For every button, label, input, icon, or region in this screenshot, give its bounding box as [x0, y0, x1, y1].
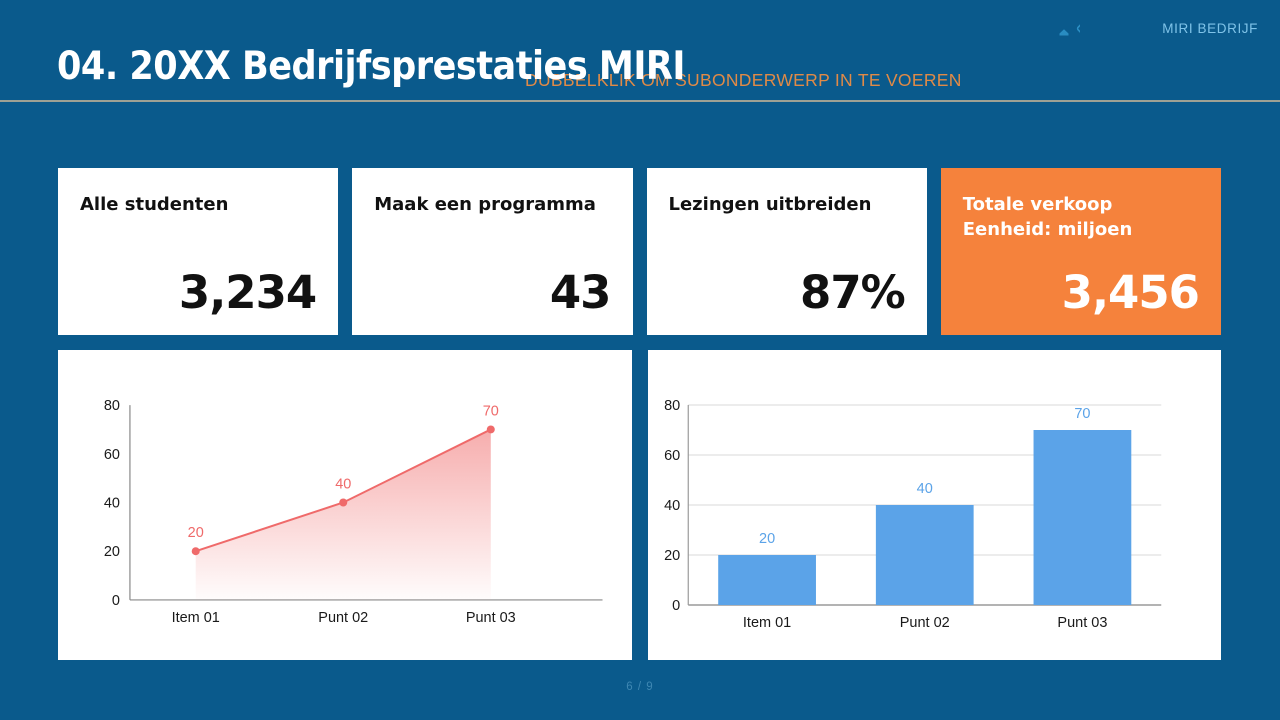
kpi-value: 3,234	[80, 269, 316, 317]
y-tick-label: 60	[104, 447, 120, 463]
x-category-label: Item 01	[742, 615, 790, 631]
data-point[interactable]	[192, 547, 200, 555]
bar[interactable]	[1033, 430, 1131, 605]
data-point-value-label: 70	[483, 403, 499, 419]
y-tick-label: 0	[112, 593, 120, 609]
y-tick-label: 20	[664, 548, 680, 564]
y-tick-label: 40	[664, 498, 680, 514]
kpi-card-alle-studenten[interactable]: Alle studenten 3,234	[58, 168, 338, 335]
bar-chart: 02040608020Item 0140Punt 0270Punt 03	[648, 350, 1222, 660]
kpi-value: 3,456	[963, 269, 1199, 317]
kpi-label-line-1: Totale verkoop	[963, 192, 1199, 217]
slide-header: MIRI BEDRIJF DUBBELKLIK OM SUBONDERWERP …	[0, 0, 1280, 101]
x-category-label: Punt 03	[1057, 615, 1107, 631]
y-tick-label: 80	[104, 398, 120, 414]
data-point[interactable]	[339, 499, 347, 507]
kpi-card-lezingen-uitbreiden[interactable]: Lezingen uitbreiden 87%	[647, 168, 927, 335]
kpi-card-maak-een-programma[interactable]: Maak een programma 43	[352, 168, 632, 335]
diamond-logo-icon	[1048, 16, 1080, 48]
y-tick-label: 0	[672, 598, 680, 614]
bar[interactable]	[718, 555, 816, 605]
area-line-chart: 02040608020Item 0140Punt 0270Punt 03	[58, 350, 632, 660]
kpi-card-totale-verkoop[interactable]: Totale verkoop Eenheid: miljoen 3,456	[941, 168, 1221, 335]
page-indicator: 6 / 9	[0, 681, 1280, 693]
line-chart-panel[interactable]: 02040608020Item 0140Punt 0270Punt 03	[58, 350, 632, 660]
data-point[interactable]	[487, 425, 495, 433]
data-point-value-label: 20	[188, 525, 204, 541]
bar[interactable]	[875, 505, 973, 605]
page-title: 04. 20XX Bedrijfsprestaties MIRI	[57, 45, 685, 89]
y-tick-label: 20	[104, 544, 120, 560]
x-category-label: Punt 02	[318, 610, 368, 626]
kpi-label: Totale verkoop Eenheid: miljoen	[963, 192, 1199, 242]
bar-value-label: 70	[1074, 406, 1090, 422]
x-category-label: Punt 02	[899, 615, 949, 631]
kpi-value: 43	[374, 269, 610, 317]
x-category-label: Item 01	[172, 610, 220, 626]
x-category-label: Punt 03	[466, 610, 516, 626]
kpi-label-line-2: Eenheid: miljoen	[963, 217, 1199, 242]
y-tick-label: 40	[104, 495, 120, 511]
kpi-value: 87%	[669, 269, 905, 317]
area-fill	[196, 429, 491, 599]
kpi-label: Lezingen uitbreiden	[669, 192, 905, 217]
data-point-value-label: 40	[335, 477, 351, 493]
header-divider	[0, 100, 1280, 102]
chart-row: 02040608020Item 0140Punt 0270Punt 03 020…	[58, 350, 1221, 660]
bar-value-label: 40	[916, 481, 932, 497]
kpi-label: Alle studenten	[80, 192, 316, 217]
kpi-label: Maak een programma	[374, 192, 610, 217]
bar-chart-panel[interactable]: 02040608020Item 0140Punt 0270Punt 03	[648, 350, 1222, 660]
kpi-card-row: Alle studenten 3,234 Maak een programma …	[58, 168, 1221, 335]
bar-value-label: 20	[759, 531, 775, 547]
y-tick-label: 80	[664, 398, 680, 414]
brand-name: MIRI BEDRIJF	[1162, 21, 1258, 36]
y-tick-label: 60	[664, 448, 680, 464]
